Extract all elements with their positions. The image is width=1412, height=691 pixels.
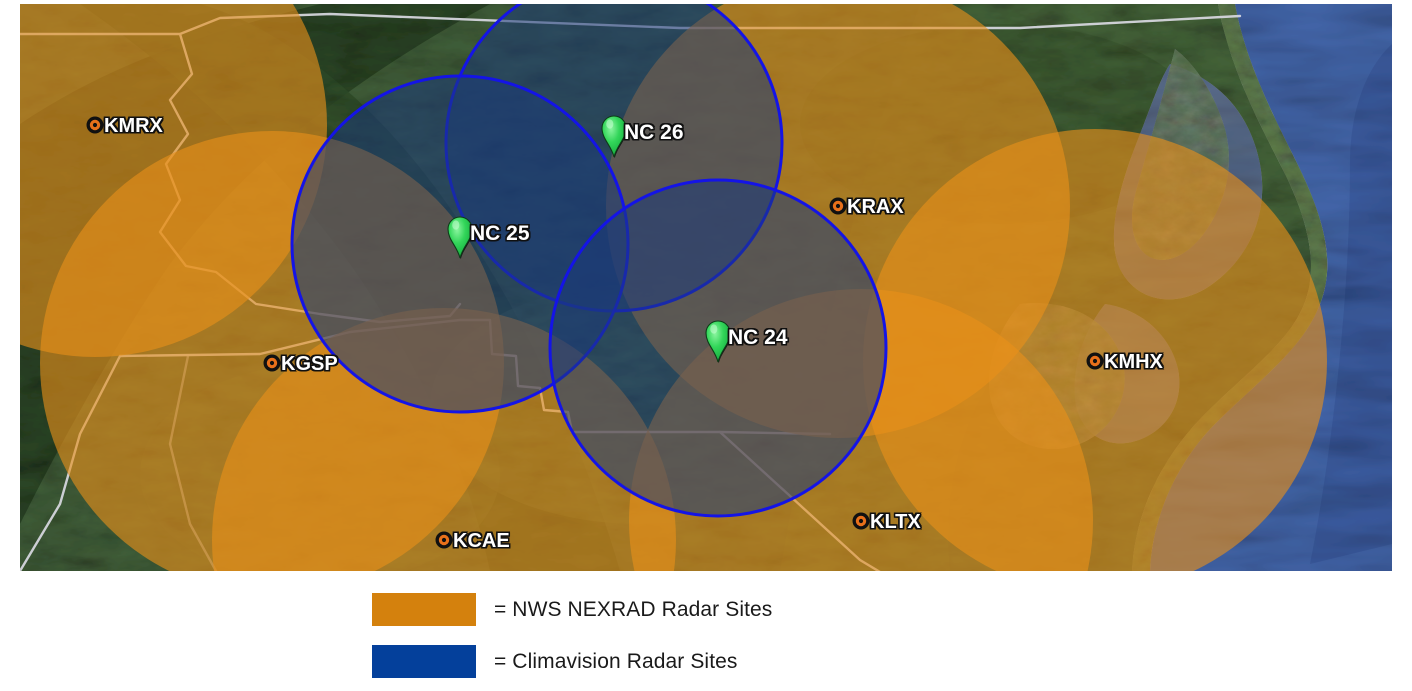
legend-label-nexrad: = NWS NEXRAD Radar Sites xyxy=(494,598,772,622)
map-viewport[interactable]: KMRXKRAXKMHXKGSPKLTXKCAENC 26NC 25NC 24 xyxy=(20,4,1392,571)
legend-item-climavision: = Climavision Radar Sites xyxy=(372,645,738,678)
nexrad-marker-kcae[interactable] xyxy=(436,532,453,549)
legend-item-nexrad: = NWS NEXRAD Radar Sites xyxy=(372,593,772,626)
map-canvas[interactable] xyxy=(20,4,1392,571)
nexrad-marker-kmhx[interactable] xyxy=(1087,353,1104,370)
legend-label-climavision: = Climavision Radar Sites xyxy=(494,650,738,674)
radar-coverage-map-page: KMRXKRAXKMHXKGSPKLTXKCAENC 26NC 25NC 24 … xyxy=(0,0,1412,691)
map-legend: = NWS NEXRAD Radar Sites = Climavision R… xyxy=(0,575,1412,691)
nexrad-marker-kltx[interactable] xyxy=(853,513,870,530)
nexrad-marker-kgsp[interactable] xyxy=(264,355,281,372)
nexrad-marker-kmrx[interactable] xyxy=(87,117,104,134)
legend-swatch-nexrad xyxy=(372,593,476,626)
nexrad-marker-krax[interactable] xyxy=(830,198,847,215)
legend-swatch-climavision xyxy=(372,645,476,678)
